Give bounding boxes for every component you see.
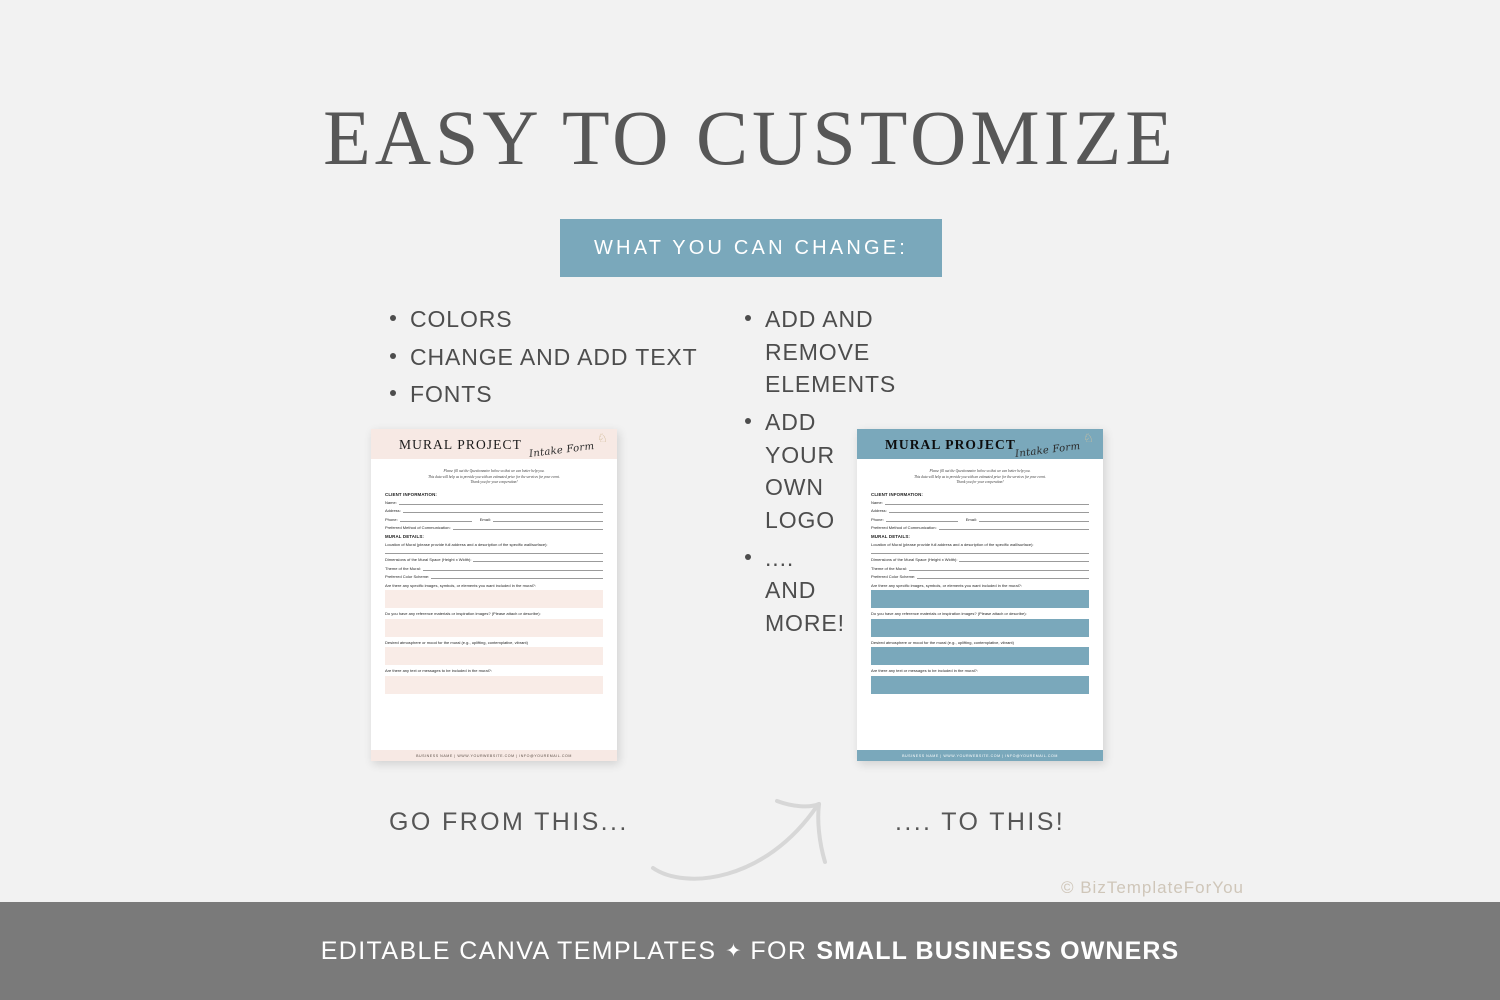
answer-box[interactable] [385, 590, 603, 608]
answer-box[interactable] [385, 619, 603, 637]
doc-intro-paragraph: Please fill out the Questionnaire below … [403, 469, 585, 486]
question-label: Are there any specific images, symbols, … [385, 583, 603, 589]
field-input-line[interactable] [917, 574, 1089, 579]
field-label: Theme of the Mural: [871, 566, 907, 571]
field-color-scheme: Preferred Color Scheme: [385, 574, 603, 579]
field-input-line[interactable] [400, 517, 472, 522]
field-address: Address: [871, 508, 1089, 513]
field-input-line[interactable] [423, 566, 603, 571]
doc-intro-line: Thank you for your cooperation! [889, 480, 1071, 486]
doc-header-band: MURAL PROJECT Intake Form ♘ [857, 429, 1103, 459]
field-input-line[interactable] [979, 517, 1089, 522]
bullet-dot-icon [390, 353, 396, 359]
field-input-line[interactable] [939, 525, 1089, 530]
question-block: Desired atmosphere or mood for the mural… [385, 640, 603, 666]
field-input-line[interactable] [431, 574, 603, 579]
question-label: Are there any text or messages to be inc… [871, 668, 1089, 674]
answer-box[interactable] [871, 647, 1089, 665]
field-input-line[interactable] [889, 508, 1089, 513]
field-dimensions: Dimensions of the Mural Space (Height x … [385, 557, 603, 562]
field-theme: Theme of the Mural: [385, 566, 603, 571]
question-label: Desired atmosphere or mood for the mural… [871, 640, 1089, 646]
page-title: EASY TO CUSTOMIZE [0, 97, 1500, 179]
field-label: Theme of the Mural: [385, 566, 421, 571]
field-label: Address: [871, 508, 887, 513]
field-input-line[interactable] [886, 517, 958, 522]
caption-after: .... TO THIS! [895, 808, 1065, 837]
field-name: Name: [385, 500, 603, 505]
question-block: Desired atmosphere or mood for the mural… [871, 640, 1089, 666]
field-label: Dimensions of the Mural Space (Height x … [871, 557, 957, 562]
field-input-line[interactable] [959, 557, 1089, 562]
answer-box[interactable] [871, 619, 1089, 637]
field-label: Phone: [385, 517, 398, 522]
footer-text-connector: FOR [750, 937, 807, 966]
field-name: Name: [871, 500, 1089, 505]
field-address: Address: [385, 508, 603, 513]
doc-intro-line: Thank you for your cooperation! [403, 480, 585, 486]
field-label: Name: [385, 500, 397, 505]
question-label: Do you have any reference materials or i… [385, 611, 603, 617]
question-label: Are there any text or messages to be inc… [385, 668, 603, 674]
bullet-dot-icon [745, 315, 751, 321]
field-input-line[interactable] [453, 525, 603, 530]
client-information-heading: CLIENT INFORMATION: [385, 492, 603, 497]
footer-bar: EDITABLE CANVA TEMPLATES ✦ FOR SMALL BUS… [0, 902, 1500, 1000]
field-phone-email: Phone: Email: [385, 517, 603, 522]
question-block: Are there any specific images, symbols, … [385, 583, 603, 609]
doc-title: MURAL PROJECT [399, 437, 522, 453]
doc-footer: BUSINESS NAME | WWW.YOURWEBSITE.COM | IN… [857, 750, 1103, 761]
doc-subtitle-script: Intake Form [529, 441, 595, 460]
field-preferred-communication: Preferred Method of Communication: [385, 525, 603, 530]
field-input-line[interactable] [909, 566, 1089, 571]
field-input-line[interactable] [473, 557, 603, 562]
field-label: Name: [871, 500, 883, 505]
caption-before: GO FROM THIS... [389, 808, 629, 837]
field-color-scheme: Preferred Color Scheme: [871, 574, 1089, 579]
field-input-line[interactable] [403, 508, 603, 513]
crest-emblem-icon: ♘ [596, 432, 609, 445]
doc-body: Please fill out the Questionnaire below … [857, 459, 1103, 750]
answer-box[interactable] [871, 676, 1089, 694]
answer-box[interactable] [871, 590, 1089, 608]
doc-footer: BUSINESS NAME | WWW.YOURWEBSITE.COM | IN… [371, 750, 617, 761]
crest-emblem-icon: ♘ [1082, 432, 1095, 445]
field-label: Email: [966, 517, 977, 522]
field-label: Preferred Color Scheme: [871, 574, 915, 579]
question-block: Do you have any reference materials or i… [385, 611, 603, 637]
field-input-line[interactable] [871, 548, 1089, 554]
field-label: Location of Mural (please provide full a… [871, 542, 1034, 547]
field-input-line[interactable] [399, 500, 603, 505]
field-label: Location of Mural (please provide full a… [385, 542, 548, 547]
list-item-label: ADD AND REMOVE ELEMENTS [765, 303, 896, 401]
doc-title: MURAL PROJECT [885, 437, 1016, 453]
field-location-of-mural: Location of Mural (please provide full a… [871, 542, 1089, 554]
footer-text-emphasis: SMALL BUSINESS OWNERS [816, 937, 1179, 966]
field-preferred-communication: Preferred Method of Communication: [871, 525, 1089, 530]
field-label: Preferred Color Scheme: [385, 574, 429, 579]
bullet-dot-icon [390, 315, 396, 321]
footer-text-primary: EDITABLE CANVA TEMPLATES [321, 937, 717, 966]
list-item-label: .... AND MORE! [765, 542, 845, 640]
question-block: Are there any text or messages to be inc… [385, 668, 603, 694]
field-theme: Theme of the Mural: [871, 566, 1089, 571]
bullet-dot-icon [745, 418, 751, 424]
list-item-label: ADD YOUR OWN LOGO [765, 406, 835, 537]
field-label: Preferred Method of Communication: [871, 525, 937, 530]
question-block: Are there any text or messages to be inc… [871, 668, 1089, 694]
what-you-can-change-banner: WHAT YOU CAN CHANGE: [560, 219, 942, 277]
field-input-line[interactable] [493, 517, 603, 522]
question-label: Desired atmosphere or mood for the mural… [385, 640, 603, 646]
answer-box[interactable] [385, 647, 603, 665]
field-label: Preferred Method of Communication: [385, 525, 451, 530]
diamond-icon: ✦ [725, 940, 741, 963]
banner-label: WHAT YOU CAN CHANGE: [594, 237, 908, 260]
bullet-dot-icon [745, 554, 751, 560]
field-input-line[interactable] [385, 548, 603, 554]
field-input-line[interactable] [885, 500, 1089, 505]
doc-subtitle-script: Intake Form [1015, 441, 1081, 460]
question-block: Are there any specific images, symbols, … [871, 583, 1089, 609]
field-location-of-mural: Location of Mural (please provide full a… [385, 542, 603, 554]
mural-details-heading: MURAL DETAILS: [871, 534, 1089, 539]
answer-box[interactable] [385, 676, 603, 694]
curved-arrow-icon [645, 790, 855, 885]
watermark-credit: © BizTemplateForYou [1061, 878, 1244, 898]
mural-details-heading: MURAL DETAILS: [385, 534, 603, 539]
field-label: Address: [385, 508, 401, 513]
field-label: Dimensions of the Mural Space (Height x … [385, 557, 471, 562]
template-preview-original[interactable]: MURAL PROJECT Intake Form ♘ Please fill … [371, 429, 617, 761]
question-label: Are there any specific images, symbols, … [871, 583, 1089, 589]
client-information-heading: CLIENT INFORMATION: [871, 492, 1089, 497]
field-phone-email: Phone: Email: [871, 517, 1089, 522]
field-label: Email: [480, 517, 491, 522]
question-block: Do you have any reference materials or i… [871, 611, 1089, 637]
template-preview-customized[interactable]: MURAL PROJECT Intake Form ♘ Please fill … [857, 429, 1103, 761]
field-label: Phone: [871, 517, 884, 522]
field-dimensions: Dimensions of the Mural Space (Height x … [871, 557, 1089, 562]
doc-intro-paragraph: Please fill out the Questionnaire below … [889, 469, 1071, 486]
doc-body: Please fill out the Questionnaire below … [371, 459, 617, 750]
question-label: Do you have any reference materials or i… [871, 611, 1089, 617]
doc-header-band: MURAL PROJECT Intake Form ♘ [371, 429, 617, 459]
